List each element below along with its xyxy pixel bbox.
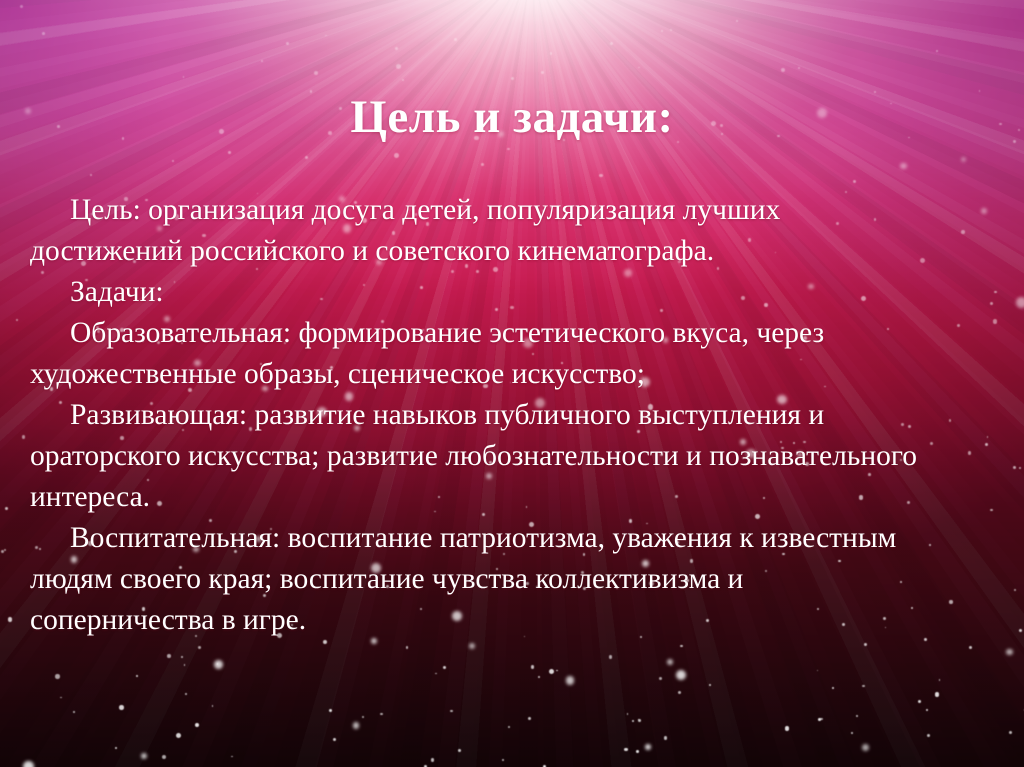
paragraph-goal: Цель: организация досуга детей, популяри… xyxy=(30,190,935,272)
paragraph-upbringing: Воспитательная: воспитание патриотизма, … xyxy=(30,518,935,641)
paragraph-educational: Образовательная: формирование эстетическ… xyxy=(30,313,935,395)
paragraph-tasks-header: Задачи: xyxy=(30,272,935,313)
slide-content: Цель и задачи: Цель: организация досуга … xyxy=(0,0,1024,767)
slide-body-text: Цель: организация досуга детей, популяри… xyxy=(30,190,935,641)
paragraph-developing: Развивающая: развитие навыков публичного… xyxy=(30,395,935,518)
presentation-slide: Цель и задачи: Цель: организация досуга … xyxy=(0,0,1024,767)
page-title: Цель и задачи: xyxy=(0,93,1024,142)
